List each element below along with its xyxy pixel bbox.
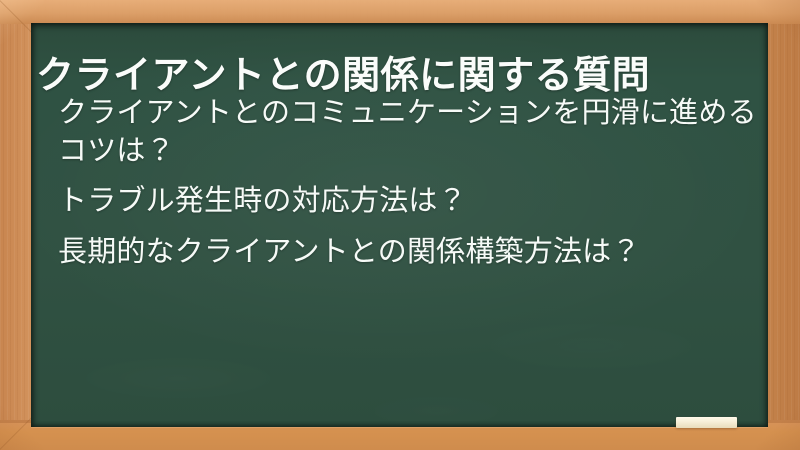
- question-item-3: 長期的なクライアントとの関係構築方法は？: [31, 234, 768, 272]
- frame-top-rail: [0, 0, 800, 24]
- question-list: クライアントとのコミュニケーションを円滑に進めるコツは？ トラブル発生時の対応方…: [31, 95, 768, 272]
- question-item-1: クライアントとのコミュニケーションを円滑に進めるコツは？: [31, 95, 768, 170]
- blackboard-slide: クライアントとの関係に関する質問 クライアントとのコミュニケーションを円滑に進め…: [0, 0, 800, 450]
- chalkboard-surface: クライアントとの関係に関する質問 クライアントとのコミュニケーションを円滑に進め…: [31, 23, 768, 427]
- question-item-2: トラブル発生時の対応方法は？: [31, 183, 768, 221]
- chalk-stick: [676, 417, 737, 428]
- slide-content: クライアントとの関係に関する質問 クライアントとのコミュニケーションを円滑に進め…: [31, 23, 768, 427]
- slide-title: クライアントとの関係に関する質問: [36, 54, 756, 99]
